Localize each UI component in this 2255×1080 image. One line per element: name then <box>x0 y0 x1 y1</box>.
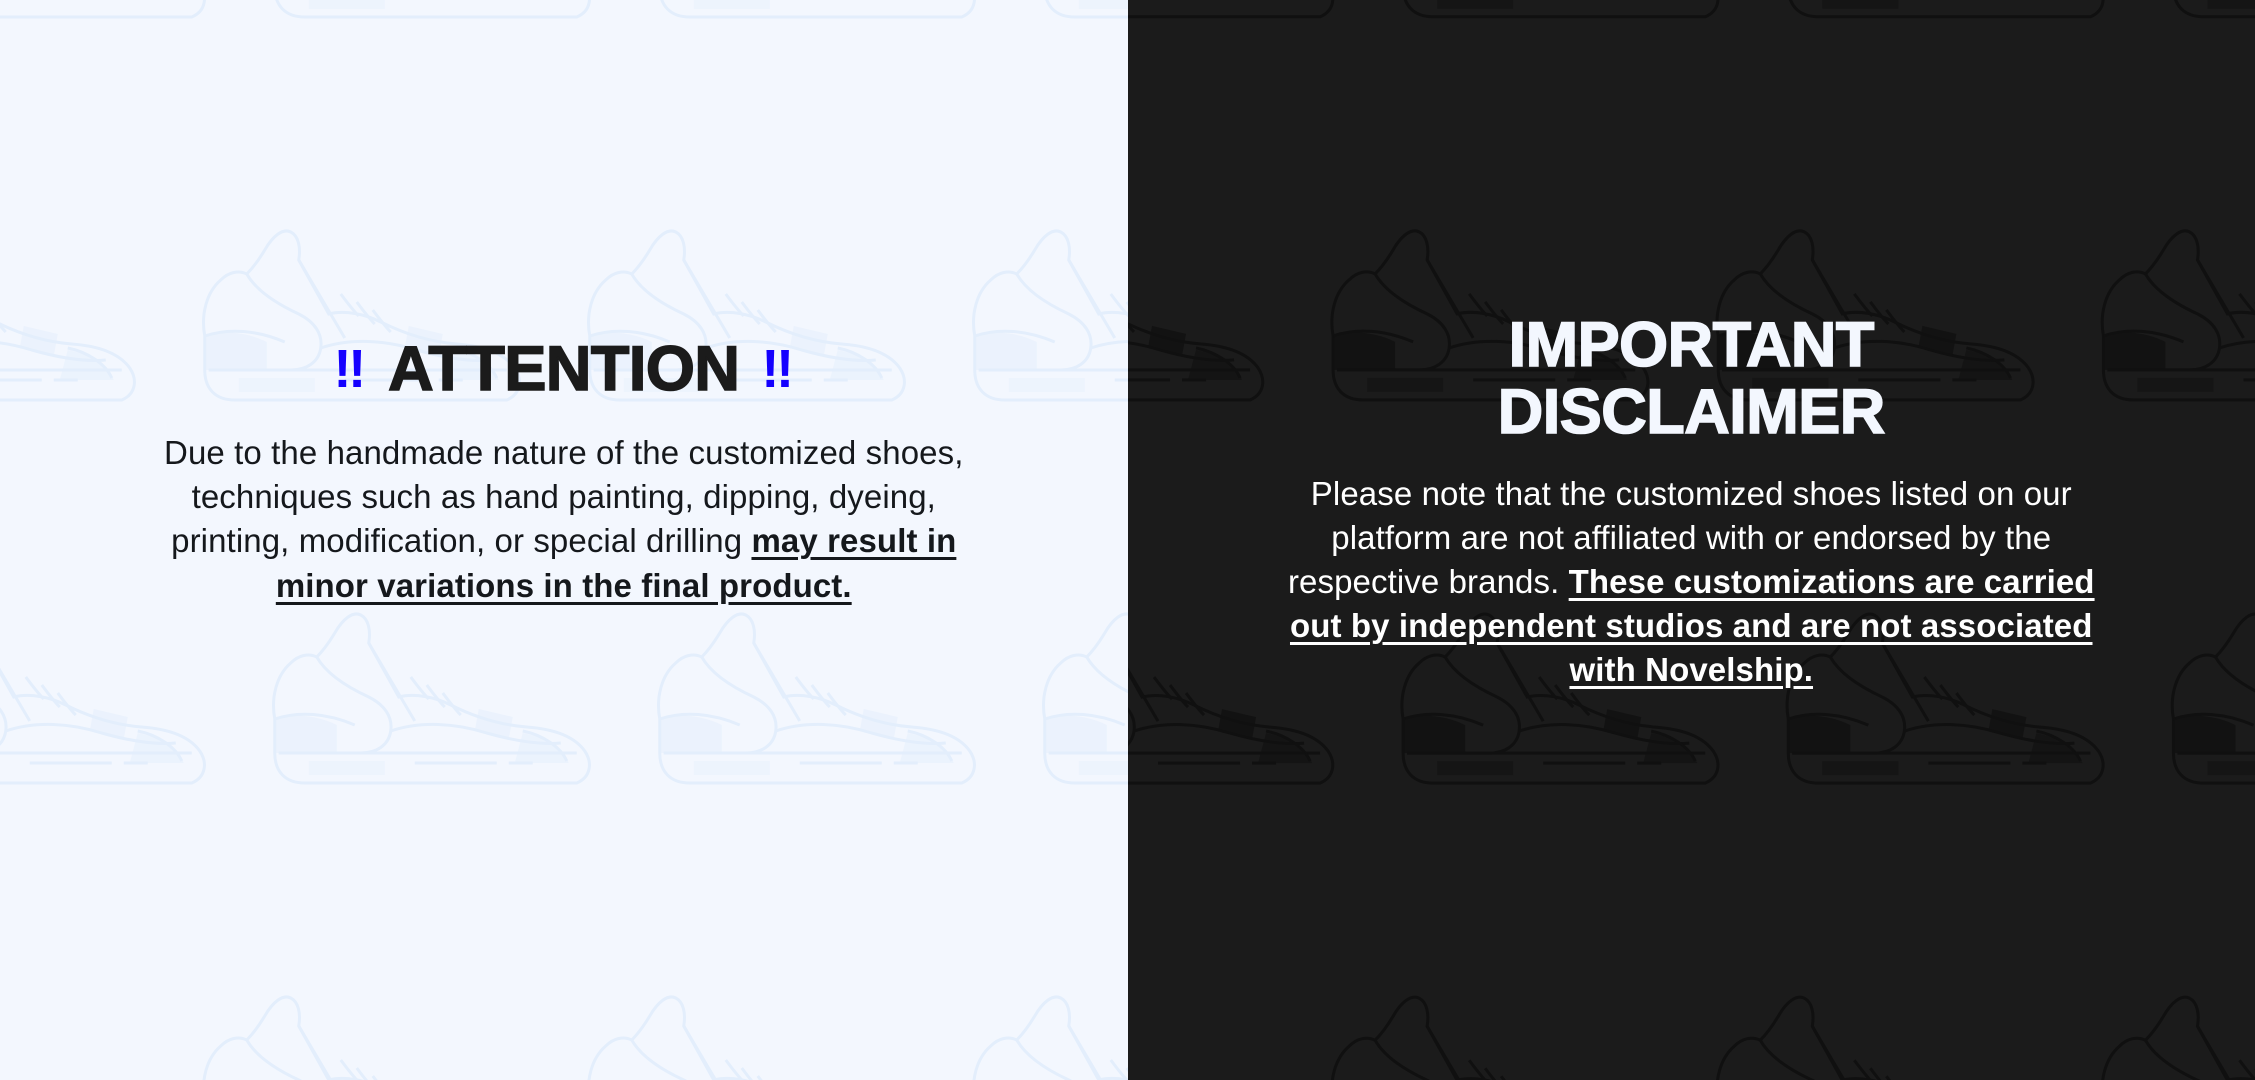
dual-panel-banner: ‼ATTENTION‼ Due to the handmade nature o… <box>0 0 2255 1080</box>
attention-body: Due to the handmade nature of the custom… <box>164 431 964 608</box>
double-exclamation-left-icon: ‼ <box>333 339 366 399</box>
attention-content: ‼ATTENTION‼ Due to the handmade nature o… <box>0 338 1128 608</box>
double-exclamation-right-icon: ‼ <box>761 339 794 399</box>
attention-panel: ‼ATTENTION‼ Due to the handmade nature o… <box>0 0 1128 1080</box>
disclaimer-headline: IMPORTANT DISCLAIMER <box>1268 312 2116 446</box>
attention-headline-text: ATTENTION <box>388 334 739 404</box>
disclaimer-headline-line2: DISCLAIMER <box>1498 377 1885 447</box>
disclaimer-headline-line1: IMPORTANT <box>1509 310 1874 380</box>
attention-headline: ‼ATTENTION‼ <box>120 338 1008 401</box>
disclaimer-body: Please note that the customized shoes li… <box>1286 472 2096 693</box>
disclaimer-content: IMPORTANT DISCLAIMER Please note that th… <box>1128 312 2255 693</box>
disclaimer-panel: IMPORTANT DISCLAIMER Please note that th… <box>1128 0 2255 1080</box>
